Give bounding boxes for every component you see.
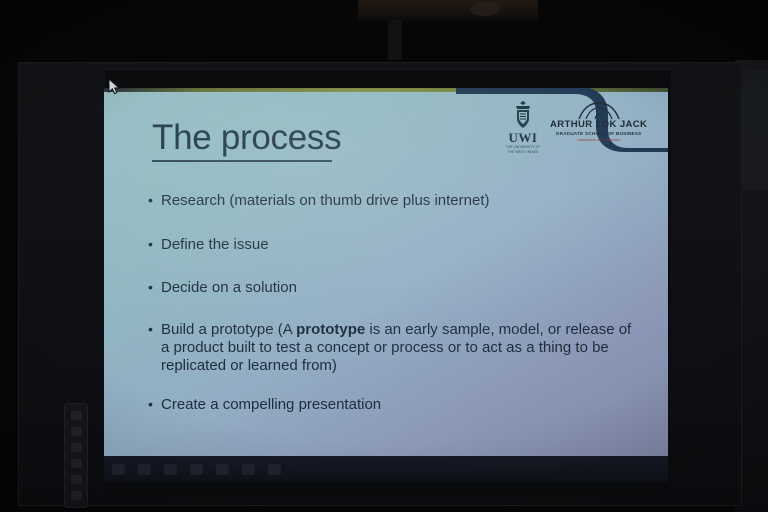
bullet-list: • Research (materials on thumb drive plu… bbox=[148, 192, 638, 414]
pointer-icon[interactable] bbox=[268, 464, 281, 475]
list-item: • Decide on a solution bbox=[148, 279, 638, 297]
bullet-marker: • bbox=[148, 321, 161, 339]
pen-icon[interactable] bbox=[164, 464, 177, 475]
spacer bbox=[148, 376, 638, 396]
volume-down-button[interactable] bbox=[71, 475, 82, 484]
bullet-marker: • bbox=[148, 236, 161, 254]
mouse-pointer-icon bbox=[108, 78, 121, 96]
list-item: • Define the issue bbox=[148, 236, 638, 254]
uwi-wordmark: UWI bbox=[509, 131, 538, 144]
ceiling-projector bbox=[358, 0, 538, 22]
projector-lens-icon bbox=[470, 2, 500, 16]
list-item-label: Research (materials on thumb drive plus … bbox=[161, 192, 638, 210]
presentation-toolbar[interactable] bbox=[104, 456, 668, 482]
more-options-icon[interactable] bbox=[242, 464, 255, 475]
list-item: • Create a compelling presentation bbox=[148, 396, 638, 414]
input-button[interactable] bbox=[71, 491, 82, 500]
bullet-marker: • bbox=[148, 279, 161, 297]
list-item-label: Decide on a solution bbox=[161, 279, 638, 297]
lok-jack-logo: ARTHUR LOK JACK GRADUATE SCHOOL OF BUSIN… bbox=[550, 100, 647, 142]
power-button[interactable] bbox=[71, 411, 82, 420]
title-underline bbox=[152, 160, 332, 162]
list-item-label-rich: Build a prototype (A prototype is an ear… bbox=[161, 321, 638, 376]
menu-button[interactable] bbox=[71, 443, 82, 452]
list-item-label: Define the issue bbox=[161, 236, 638, 254]
previous-slide-icon[interactable] bbox=[112, 464, 125, 475]
lok-jack-tagline: Innovation Are Focused bbox=[578, 139, 620, 143]
list-item: • Research (materials on thumb drive plu… bbox=[148, 192, 638, 210]
prototype-pre: Build a prototype (A bbox=[161, 321, 296, 338]
spacer bbox=[148, 210, 638, 236]
source-button[interactable] bbox=[71, 427, 82, 436]
list-item: • Build a prototype (A prototype is an e… bbox=[148, 321, 638, 376]
lok-jack-name: ARTHUR LOK JACK bbox=[550, 120, 647, 130]
wall-panel bbox=[742, 70, 768, 190]
list-item-label: Create a compelling presentation bbox=[161, 396, 638, 414]
logo-group: UWI THE UNIVERSITY OF THE WEST INDIES AR… bbox=[502, 100, 654, 160]
page-title: The process bbox=[152, 120, 341, 155]
slide-title-block: The process bbox=[152, 120, 341, 162]
uwi-crest-icon bbox=[510, 100, 536, 130]
uwi-subtext: THE UNIVERSITY OF THE WEST INDIES bbox=[502, 145, 544, 155]
classroom-scene: UWI THE UNIVERSITY OF THE WEST INDIES AR… bbox=[0, 0, 768, 512]
projected-slide: UWI THE UNIVERSITY OF THE WEST INDIES AR… bbox=[104, 88, 668, 482]
slide-grid-icon[interactable] bbox=[190, 464, 203, 475]
spacer bbox=[148, 297, 638, 321]
bullet-marker: • bbox=[148, 192, 161, 210]
arch-arc-icon bbox=[576, 102, 622, 120]
spacer bbox=[148, 255, 638, 279]
uwi-logo: UWI THE UNIVERSITY OF THE WEST INDIES bbox=[502, 100, 544, 158]
prototype-bold: prototype bbox=[296, 321, 365, 338]
lok-jack-school: GRADUATE SCHOOL OF BUSINESS bbox=[556, 132, 642, 137]
board-control-strip[interactable] bbox=[64, 403, 88, 508]
volume-up-button[interactable] bbox=[71, 459, 82, 468]
bullet-marker: • bbox=[148, 396, 161, 414]
projector-mount bbox=[388, 20, 402, 60]
magnifier-icon[interactable] bbox=[216, 464, 229, 475]
next-slide-icon[interactable] bbox=[138, 464, 151, 475]
